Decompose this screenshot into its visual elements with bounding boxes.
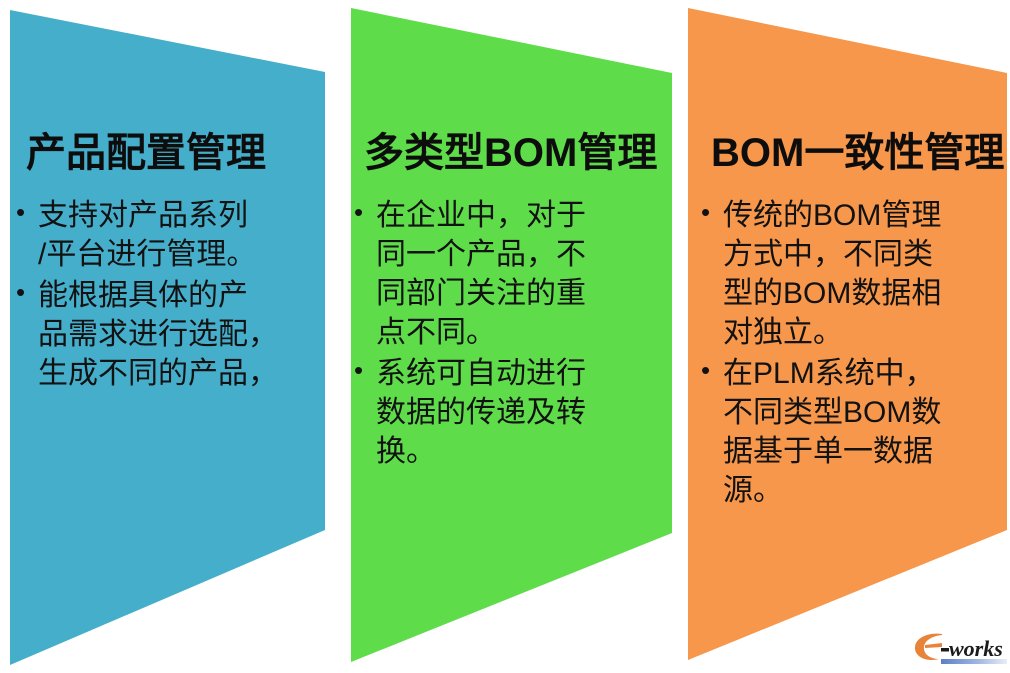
eworks-wordmark: works [949,636,1003,661]
panel-multi-type-bom-management: 多类型BOM管理 • 在企业中，对于 同一个产品，不 同部门关注的重 点不同。 … [340,0,685,673]
panel-bullet-list-1: • 在企业中，对于 同一个产品，不 同部门关注的重 点不同。 • 系统可自动进行… [354,196,654,473]
bullet-marker-icon: • [354,354,376,388]
panel-bullet-list-0: • 支持对产品系列 /平台进行管理。 • 能根据具体的产 品需求进行选配， 生成… [16,196,316,395]
eworks-dash [941,648,949,652]
bullet-marker-icon: • [701,354,723,388]
bullet-marker-icon: • [354,196,376,230]
eworks-logo-icon: works [912,628,1008,668]
bullet-text: 支持对产品系列 /平台进行管理。 [38,196,316,274]
panel-title-2: BOM一致性管理 [711,133,1004,173]
bullet-text: 传统的BOM管理 方式中，不同类 型的BOM数据相 对独立。 [723,196,991,352]
bullet-marker-icon: • [16,276,38,310]
list-item: • 在PLM系统中， 不同类型BOM数 据基于单一数据 源。 [701,354,991,510]
bullet-marker-icon: • [16,196,38,230]
slide-canvas: 产品配置管理 • 支持对产品系列 /平台进行管理。 • 能根据具体的产 品需求进… [0,0,1010,673]
panel-product-configuration-management: 产品配置管理 • 支持对产品系列 /平台进行管理。 • 能根据具体的产 品需求进… [0,0,340,673]
list-item: • 能根据具体的产 品需求进行选配， 生成不同的产品， [16,276,316,393]
list-item: • 在企业中，对于 同一个产品，不 同部门关注的重 点不同。 [354,196,654,352]
eworks-accent-bar [941,659,1007,664]
bullet-text: 系统可自动进行 数据的传递及转 换。 [376,354,654,471]
bullet-marker-icon: • [701,196,723,230]
panel-bullet-list-2: • 传统的BOM管理 方式中，不同类 型的BOM数据相 对独立。 • 在PLM系… [701,196,991,512]
eworks-e-bar [925,643,942,648]
panel-bom-consistency-management: BOM一致性管理 • 传统的BOM管理 方式中，不同类 型的BOM数据相 对独立… [685,0,1010,673]
list-item: • 传统的BOM管理 方式中，不同类 型的BOM数据相 对独立。 [701,196,991,352]
bullet-text: 能根据具体的产 品需求进行选配， 生成不同的产品， [38,276,316,393]
bullet-text: 在企业中，对于 同一个产品，不 同部门关注的重 点不同。 [376,196,654,352]
panel-title-0: 产品配置管理 [26,133,266,173]
eworks-logo: works [912,628,1008,668]
list-item: • 系统可自动进行 数据的传递及转 换。 [354,354,654,471]
bullet-text: 在PLM系统中， 不同类型BOM数 据基于单一数据 源。 [723,354,991,510]
list-item: • 支持对产品系列 /平台进行管理。 [16,196,316,274]
panel-title-1: 多类型BOM管理 [364,133,657,173]
